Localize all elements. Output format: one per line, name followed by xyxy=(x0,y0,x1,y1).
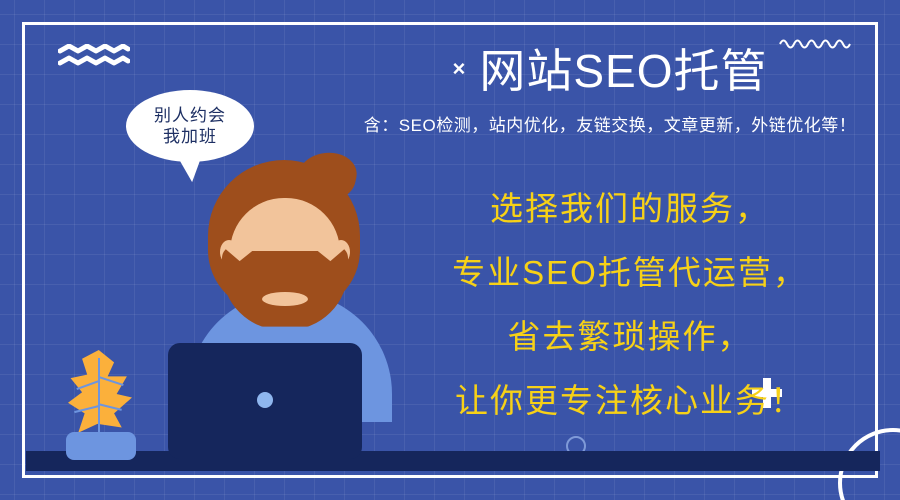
pitch-line: 让你更专注核心业务！ xyxy=(400,384,860,417)
plant-pot xyxy=(66,432,136,460)
speech-bubble: 别人约会 我加班 xyxy=(126,90,254,162)
potted-plant xyxy=(58,350,144,460)
laptop-screen xyxy=(168,343,362,459)
headline-subtitle: 含：SEO检测，站内优化，友链交换，文章更新，外链优化等！ xyxy=(340,111,880,136)
pitch-block: 选择我们的服务， 专业SEO托管代运营， 省去繁琐操作， 让你更专注核心业务！ xyxy=(400,192,860,417)
pitch-line: 选择我们的服务， xyxy=(400,192,860,225)
leaf-vein xyxy=(98,358,100,436)
speech-bubble-line: 别人约会 xyxy=(154,105,226,126)
pitch-line: 专业SEO托管代运营， xyxy=(400,256,860,289)
laptop-logo-dot xyxy=(257,392,273,408)
headline-row: × 网站SEO托管 xyxy=(340,46,880,97)
headline-block: × 网站SEO托管 含：SEO检测，站内优化，友链交换，文章更新，外链优化等！ xyxy=(340,46,880,136)
mouth xyxy=(262,292,308,306)
speech-bubble-line: 我加班 xyxy=(163,126,217,147)
cross-icon: × xyxy=(452,58,465,84)
seo-promo-banner: × 网站SEO托管 含：SEO检测，站内优化，友链交换，文章更新，外链优化等！ … xyxy=(0,0,900,500)
pitch-line: 省去繁琐操作， xyxy=(400,320,860,353)
desk-surface xyxy=(26,451,880,471)
page-title: 网站SEO托管 xyxy=(479,46,767,97)
plant-leaf xyxy=(68,350,132,438)
